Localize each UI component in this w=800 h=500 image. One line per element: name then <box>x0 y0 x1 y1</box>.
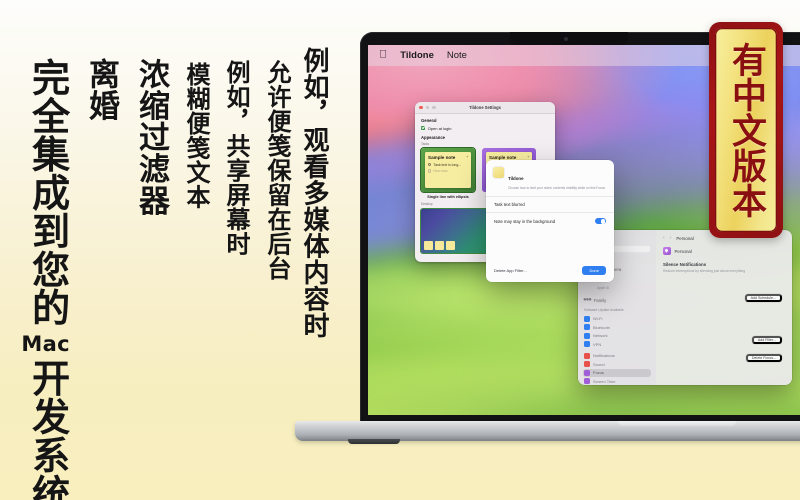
done-button[interactable]: Done <box>582 266 606 275</box>
promo-line-5: 浓缩过滤器 <box>135 58 166 216</box>
tildone-window-title: Tildone Settings <box>415 105 555 110</box>
general-section-header: General <box>421 118 549 123</box>
open-at-login-label: Open at login <box>428 126 452 131</box>
notifications-icon <box>584 353 590 359</box>
row-task-text-blurred[interactable]: Task text blurred <box>486 196 614 212</box>
task-checkbox-icon[interactable] <box>428 163 431 166</box>
family-row[interactable]: ●●● Family <box>583 297 651 303</box>
promo-headline: 完全集成到您的Mac开发系统中： <box>23 58 72 500</box>
plus-icon[interactable]: + <box>466 154 468 159</box>
card-caption: Single line with ellipsis <box>421 195 475 199</box>
account-sub: Apple ID <box>597 286 609 290</box>
tildone-titlebar[interactable]: Tildone Settings <box>415 102 555 114</box>
sidebar-item-sound[interactable]: Sound <box>583 360 651 369</box>
sidebar-item-screen-time[interactable]: Screen Time <box>583 377 651 385</box>
menubar-item-note[interactable]: Note <box>447 50 467 61</box>
task-checkbox-icon[interactable] <box>428 169 431 172</box>
task-row: New task <box>428 169 468 173</box>
sidebar-item-label: Focus <box>593 370 604 375</box>
sidebar-item-label: Bluetooth <box>593 325 610 330</box>
promo-line-3: 例如，共享屏幕时 <box>224 60 248 256</box>
sidebar-item-label: Sound <box>593 362 605 367</box>
card-single-line[interactable]: + Sample note Task text is long... New t… <box>421 148 475 199</box>
webcam-icon <box>564 37 568 41</box>
sidebar-group-alerts: Notifications Sound Focus Screen Time <box>583 352 651 386</box>
appearance-section-header: Appearance <box>421 135 549 140</box>
promo-headline-mac: Mac <box>21 327 70 359</box>
apple-logo-icon[interactable]:  <box>379 50 387 61</box>
task-text: New task <box>433 169 447 173</box>
family-icon: ●●● <box>583 297 591 303</box>
badge-inner: 有中文版本 <box>715 28 777 232</box>
delete-focus-button[interactable]: Delete Focus... <box>746 354 782 362</box>
promo-headline-part-2: 开发系统中： <box>26 359 70 500</box>
promo-headline-part-1: 完全集成到您的 <box>26 58 70 327</box>
sheet-header: Tildone Choose how to limit your notes' … <box>486 160 614 196</box>
focus-icon <box>584 370 590 376</box>
sidebar-item-label: Screen Time <box>593 379 615 384</box>
chinese-version-badge: 有中文版本 <box>709 22 783 238</box>
mini-note <box>446 241 455 250</box>
sidebar-item-label: Notifications <box>593 353 615 358</box>
breadcrumb-label: Personal <box>676 236 693 241</box>
sidebar-item-network[interactable]: Network <box>583 332 651 341</box>
note-title: Sample note <box>428 155 468 160</box>
plus-icon[interactable]: + <box>527 154 529 159</box>
sample-note: + Sample note Task text is long... New t… <box>425 152 471 188</box>
tasks-sublabel: Tasks <box>421 142 549 146</box>
sidebar-item-bluetooth[interactable]: Bluetooth <box>583 323 651 332</box>
task-text: Task text is long... <box>433 163 461 167</box>
background-toggle[interactable] <box>595 218 606 224</box>
menubar-app-name[interactable]: Tildone <box>400 50 434 61</box>
bluetooth-icon <box>584 324 590 330</box>
promo-line-2: 允许便笺保留在后台 <box>265 60 289 280</box>
sidebar-item-label: Network <box>593 333 608 338</box>
sheet-description: Choose how to limit your notes' contents… <box>508 186 605 190</box>
software-update-group-title: Software Update Available <box>584 308 651 312</box>
vpn-icon <box>584 341 590 347</box>
add-filter-button[interactable]: Add Filter... <box>752 336 782 344</box>
focus-name: Personal <box>675 249 692 254</box>
laptop-notch <box>510 32 628 45</box>
forward-icon[interactable]: › <box>670 235 672 241</box>
row-label: Task text blurred <box>494 202 525 207</box>
promo-line-4: 模糊便笺文本 <box>184 62 208 209</box>
note-preview-green[interactable]: + Sample note Task text is long... New t… <box>421 148 475 192</box>
badge-text: 有中文版本 <box>728 42 764 219</box>
sidebar-item-notifications[interactable]: Notifications <box>583 352 651 361</box>
laptop-foot <box>348 439 400 444</box>
network-icon <box>584 333 590 339</box>
row-label: Note may stay in the background <box>494 219 555 224</box>
sheet-footer: Delete App Filter... Done <box>486 259 614 282</box>
mini-note <box>424 241 433 250</box>
silence-notifications-sub: Reduce interruptions by silencing just a… <box>663 269 785 274</box>
sidebar-item-focus[interactable]: Focus <box>583 369 651 378</box>
mini-note <box>435 241 444 250</box>
delete-app-filter-button[interactable]: Delete App Filter... <box>494 268 527 273</box>
add-schedule-button[interactable]: Add Schedule... <box>745 294 782 302</box>
open-at-login-row[interactable]: Open at login <box>421 126 549 131</box>
promo-line-6: 离婚 <box>85 58 116 121</box>
sheet-app-name: Tildone <box>508 176 524 181</box>
sidebar-group-network: Wi-Fi Bluetooth Network VPN <box>583 315 651 349</box>
focus-header-row: Personal <box>663 247 785 255</box>
silence-notifications-title: Silence Notifications <box>663 262 785 267</box>
promo-banner: 例如，观看多媒体内容时 允许便笺保留在后台 例如，共享屏幕时 模糊便笺文本 浓缩… <box>0 0 800 500</box>
focus-personal-icon <box>663 247 671 255</box>
task-row: Task text is long... <box>428 163 468 167</box>
tildone-app-icon <box>493 167 504 178</box>
checkbox-icon[interactable] <box>421 126 425 130</box>
system-settings-detail: ‹ › Personal Personal Silence Notificati… <box>656 230 792 385</box>
sound-icon <box>584 361 590 367</box>
sidebar-item-wifi[interactable]: Wi-Fi <box>583 315 651 324</box>
row-note-background[interactable]: Note may stay in the background <box>486 212 614 229</box>
sidebar-item-vpn[interactable]: VPN <box>583 340 651 349</box>
tildone-app-filter-sheet[interactable]: Tildone Choose how to limit your notes' … <box>486 160 614 282</box>
sidebar-item-label: Wi-Fi <box>593 316 602 321</box>
back-icon[interactable]: ‹ <box>663 235 665 241</box>
promo-line-1: 例如，观看多媒体内容时 <box>301 47 327 339</box>
sidebar-item-label: VPN <box>593 342 601 347</box>
laptop-base-notch <box>618 421 736 426</box>
family-label: Family <box>594 298 606 303</box>
screen-time-icon <box>584 378 590 384</box>
wifi-icon <box>584 316 590 322</box>
